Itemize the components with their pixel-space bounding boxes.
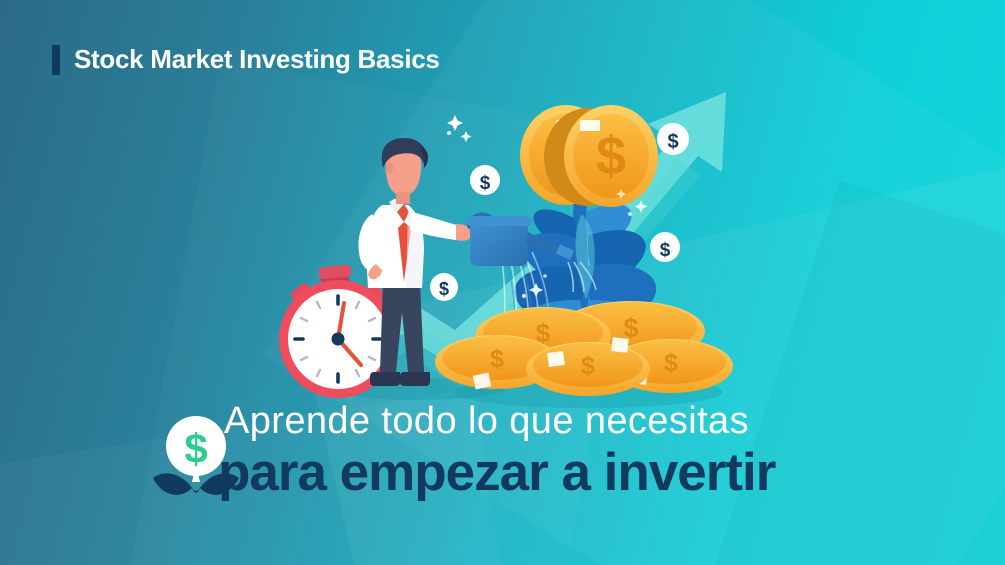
- svg-text:$: $: [596, 126, 626, 186]
- dollar-badge: $: [470, 165, 500, 195]
- svg-text:$: $: [480, 173, 491, 194]
- hero-lockup: $ Aprende todo lo que necesitas para emp…: [150, 402, 940, 517]
- logo-dollar-icon: $: [184, 425, 207, 472]
- tagline-line-2: para empezar a invertir: [218, 446, 775, 499]
- tagline-block: Aprende todo lo que necesitas para empez…: [218, 402, 775, 499]
- svg-text:$: $: [660, 240, 671, 261]
- svg-text:$: $: [439, 279, 449, 299]
- dollar-badge: $: [430, 273, 458, 301]
- page-title: Stock Market Investing Basics: [74, 44, 440, 75]
- slide-canvas: $ $ $ $: [0, 0, 1005, 565]
- slide-header: Stock Market Investing Basics: [52, 44, 440, 75]
- dollar-badge: [510, 120, 526, 136]
- svg-text:$: $: [667, 131, 678, 153]
- svg-text:$: $: [664, 349, 678, 377]
- svg-text:$: $: [490, 345, 504, 373]
- coin-stack-top: $: [520, 105, 658, 207]
- dollar-badge: $: [657, 123, 689, 155]
- svg-text:$: $: [623, 313, 638, 343]
- logo-leaf-left: [153, 473, 192, 494]
- tagline-line-1: Aprende todo lo que necesitas: [224, 402, 775, 440]
- accent-bar-icon: [52, 45, 60, 75]
- dollar-badge: $: [650, 232, 680, 262]
- svg-text:$: $: [581, 352, 595, 380]
